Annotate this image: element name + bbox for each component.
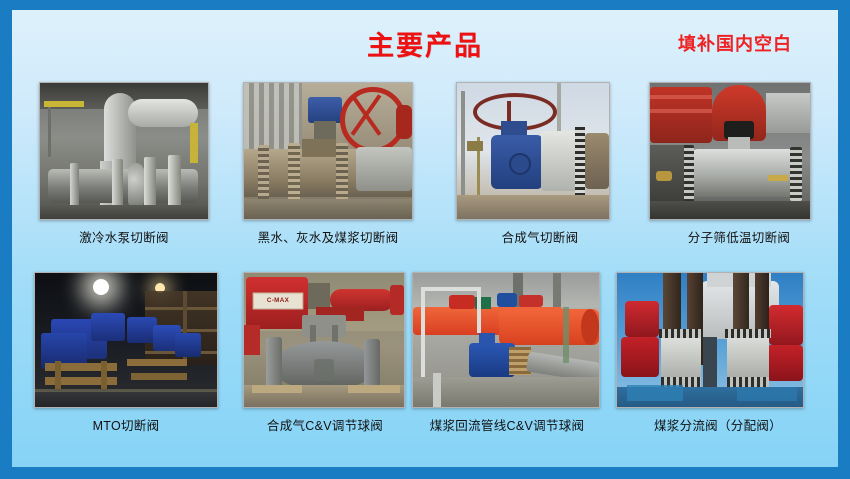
product-caption-4: 分子筛低温切断阀 xyxy=(649,227,829,246)
product-grid: 激冷水泵切断阀 xyxy=(12,72,838,461)
product-photo-2[interactable] xyxy=(243,82,413,220)
product-caption-7: 煤浆回流管线C&V调节球阀 xyxy=(412,415,602,434)
product-photo-7[interactable] xyxy=(412,272,600,408)
slide-header: 主要产品 填补国内空白 xyxy=(12,10,838,72)
product-item-2[interactable]: 黑水、灰水及煤浆切断阀 xyxy=(243,82,413,246)
product-item-8[interactable]: 煤浆分流阀（分配阀） xyxy=(612,272,824,434)
product-row-2: MTO切断阀 C-MAX xyxy=(12,272,838,444)
product-photo-8[interactable] xyxy=(616,272,804,408)
product-row-1: 激冷水泵切断阀 xyxy=(12,82,838,254)
product-caption-5: MTO切断阀 xyxy=(34,415,218,434)
product-caption-8: 煤浆分流阀（分配阀） xyxy=(612,415,824,434)
product-photo-5[interactable] xyxy=(34,272,218,408)
product-photo-1[interactable] xyxy=(39,82,209,220)
product-item-1[interactable]: 激冷水泵切断阀 xyxy=(39,82,209,246)
brand-label-cmax: C-MAX xyxy=(253,293,303,310)
product-item-3[interactable]: 合成气切断阀 xyxy=(456,82,624,246)
slide-subtitle: 填补国内空白 xyxy=(678,30,792,56)
product-caption-6: 合成气C&V调节球阀 xyxy=(243,415,407,434)
product-item-6[interactable]: C-MAX xyxy=(243,272,407,434)
product-caption-3: 合成气切断阀 xyxy=(456,227,624,246)
product-caption-1: 激冷水泵切断阀 xyxy=(39,227,209,246)
slide-content: 主要产品 填补国内空白 xyxy=(12,10,838,467)
product-photo-4[interactable] xyxy=(649,82,811,220)
product-photo-3[interactable] xyxy=(456,82,610,220)
product-item-5[interactable]: MTO切断阀 xyxy=(34,272,218,434)
product-caption-2: 黑水、灰水及煤浆切断阀 xyxy=(243,227,413,246)
product-item-4[interactable]: 分子筛低温切断阀 xyxy=(649,82,829,246)
slide-frame: 主要产品 填补国内空白 xyxy=(0,0,850,479)
product-photo-6[interactable]: C-MAX xyxy=(243,272,405,408)
product-item-7[interactable]: 煤浆回流管线C&V调节球阀 xyxy=(412,272,602,434)
